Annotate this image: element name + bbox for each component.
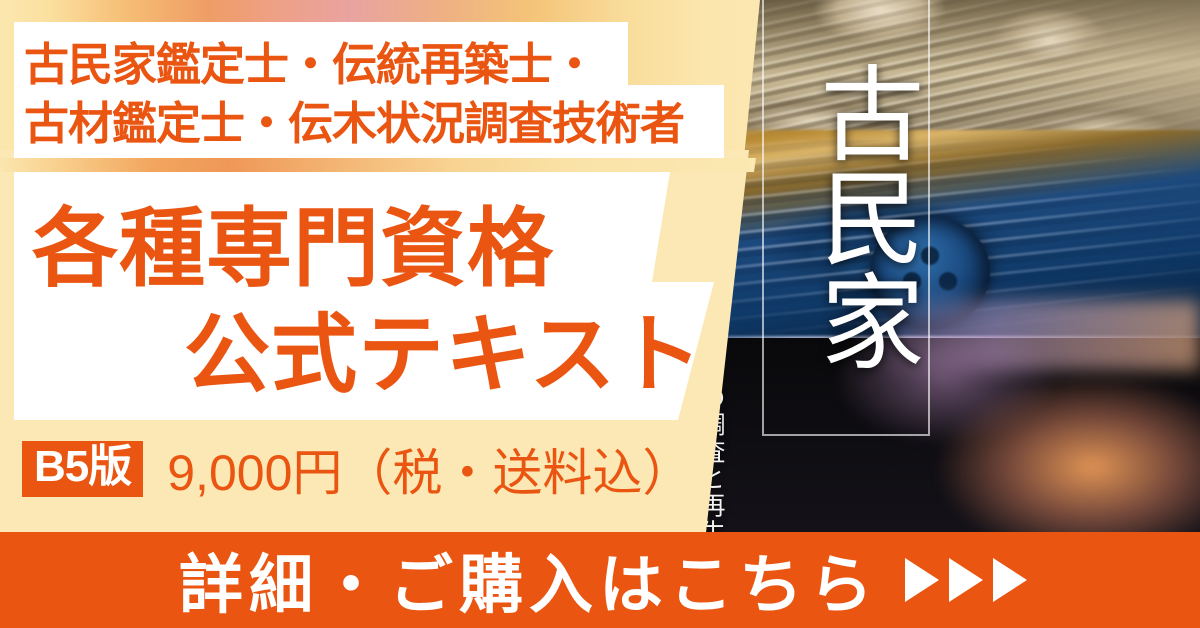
triangle-right-icon <box>993 558 1027 602</box>
triangle-right-icon <box>905 558 939 602</box>
cover-title-vertical: 古民家 <box>762 6 930 426</box>
headline-card: 古民家鑑定士・伝統再築士・ 古材鑑定士・伝木状況調査技術者 <box>14 22 724 158</box>
cta-label: 詳細・ご購入はこちら <box>173 534 879 626</box>
triangle-right-icon <box>949 558 983 602</box>
cta-arrows <box>905 558 1027 602</box>
price-text: 9,000円（税・送料込） <box>167 433 692 505</box>
title-card: 各種専門資格 公式テキスト <box>14 172 714 420</box>
cta-bar[interactable]: 詳細・ご購入はこちら <box>0 532 1200 628</box>
headline-line-2: 古材鑑定士・伝木状況調査技術者 <box>24 87 684 152</box>
promo-banner[interactable]: 古民家 伝統構法 古民家活用のための調査と再生の 古民家鑑定士・伝統再築士・ 古… <box>0 0 1200 628</box>
title-line-2: 公式テキスト <box>184 284 703 409</box>
headline-line-1: 古民家鑑定士・伝統再築士・ <box>24 28 596 93</box>
price-row: B5版 9,000円（税・送料込） <box>22 432 692 506</box>
size-badge: B5版 <box>22 441 143 497</box>
panel-divider-stripe <box>0 158 760 172</box>
